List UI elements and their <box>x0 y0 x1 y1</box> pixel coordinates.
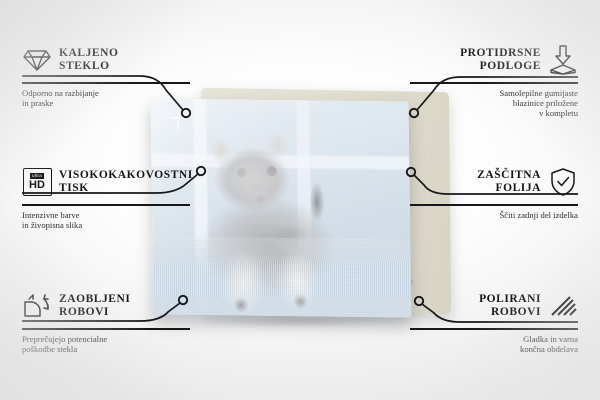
sparkle-icon <box>165 105 191 131</box>
feature-rounded-edges: ZAOBLJENI ROBOVI Preprečujejo potencialn… <box>22 286 190 354</box>
feature-title: VISOKOKAKOVOSTNI TISK <box>59 169 193 196</box>
diamond-icon <box>22 45 52 75</box>
hd-label: HD <box>29 180 45 191</box>
ultra-label: ultra <box>30 173 44 179</box>
feature-divider <box>410 82 578 84</box>
feature-subtitle: Samolepilne gumijaste blazinice priložen… <box>410 88 578 119</box>
feature-antislip-pads: PROTIDRSNE PODLOGE Samolepilne gumijaste… <box>410 40 578 119</box>
feature-divider <box>22 204 190 206</box>
infographic-canvas: KALJENO STEKLO Odporno na razbijanje in … <box>0 0 600 400</box>
feature-divider <box>22 328 190 330</box>
feature-header: ZAOBLJENI ROBOVI <box>22 286 190 326</box>
feature-header: KALJENO STEKLO <box>22 40 190 80</box>
product-image <box>152 86 452 326</box>
feature-subtitle: Odporno na razbijanje in praske <box>22 88 190 109</box>
feature-subtitle: Ščiti zadnji del izdelka <box>410 210 578 220</box>
feature-hd-print: ultra HD VISOKOKAKOVOSTNI TISK Intenzivn… <box>22 162 190 230</box>
feature-subtitle: Gladka in varna končna obdelava <box>410 334 578 355</box>
feature-header: PROTIDRSNE PODLOGE <box>410 40 578 80</box>
feature-subtitle: Preprečujejo potencialne poškodbe stekla <box>22 334 190 355</box>
feature-divider <box>410 328 578 330</box>
feature-title: ZAŠČITNA FOLIJA <box>477 169 541 196</box>
feature-title: ZAOBLJENI ROBOVI <box>59 293 130 320</box>
feature-divider <box>22 82 190 84</box>
feature-header: ZAŠČITNA FOLIJA <box>410 162 578 202</box>
feature-subtitle: Intenzivne barve in živopisna slika <box>22 210 190 231</box>
diagonal-hatch-icon <box>548 291 578 321</box>
ultra-hd-badge-icon: ultra HD <box>22 167 52 197</box>
shield-check-icon <box>548 167 578 197</box>
feature-header: ultra HD VISOKOKAKOVOSTNI TISK <box>22 162 190 202</box>
feature-protective-film: ZAŠČITNA FOLIJA Ščiti zadnji del izdelka <box>410 162 578 220</box>
rounded-corner-icon <box>22 291 52 321</box>
feature-polished-edges: POLIRANI ROBOVI Gladka in varna končna o… <box>410 286 578 354</box>
feature-title: POLIRANI ROBOVI <box>479 293 541 320</box>
feature-header: POLIRANI ROBOVI <box>410 286 578 326</box>
feature-title: PROTIDRSNE PODLOGE <box>460 47 541 74</box>
feature-title: KALJENO STEKLO <box>59 47 118 74</box>
feature-tempered-glass: KALJENO STEKLO Odporno na razbijanje in … <box>22 40 190 108</box>
press-down-pad-icon <box>548 45 578 75</box>
feature-divider <box>410 204 578 206</box>
